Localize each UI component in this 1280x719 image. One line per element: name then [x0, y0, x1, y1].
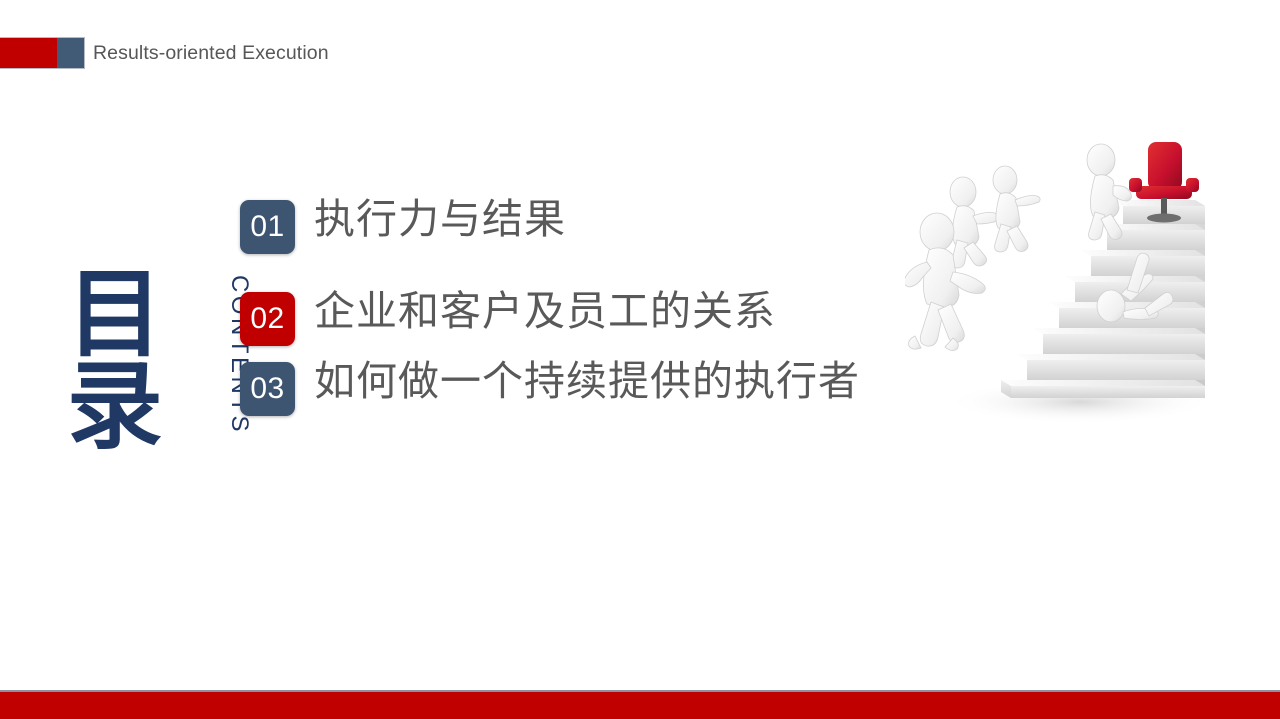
toc-label-group: 目录 CONTENTS — [60, 250, 225, 460]
slide-canvas: Results-oriented Execution 目录 CONTENTS 0… — [0, 0, 1280, 719]
footer-bar — [0, 690, 1280, 719]
toc-label-02: 企业和客户及员工的关系 — [314, 288, 776, 335]
stairs-illustration-graphic — [905, 130, 1225, 430]
header-accent-blue-block — [57, 38, 84, 68]
slide-header: Results-oriented Execution — [0, 38, 329, 68]
figure-mid-climber-lower — [993, 166, 1040, 252]
header-accent-red-block — [0, 38, 57, 68]
toc-label-03: 如何做一个持续提供的执行者 — [314, 358, 860, 405]
toc-number-badge-01: 01 — [240, 200, 295, 254]
toc-label-01: 执行力与结果 — [314, 196, 566, 243]
toc-number-badge-03: 03 — [240, 362, 295, 416]
toc-number-badge-02: 02 — [240, 292, 295, 346]
stairs-illustration — [905, 130, 1225, 430]
header-title: Results-oriented Execution — [93, 42, 329, 65]
toc-title-chinese: 目录 — [60, 263, 151, 447]
figure-mid-climber-upper — [950, 177, 1000, 268]
header-accent-mark — [0, 38, 84, 68]
